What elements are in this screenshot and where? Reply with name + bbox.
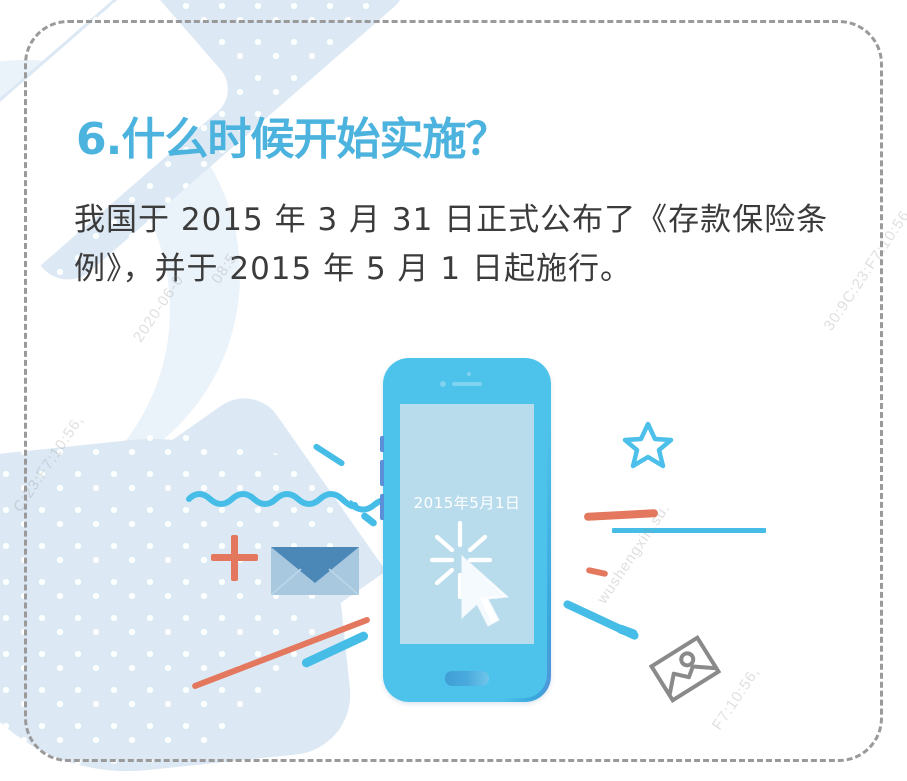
star-outline-icon (622, 420, 674, 470)
page-title: 6.什么时候开始实施？ (76, 103, 508, 167)
phone-screen[interactable]: 2015年5月1日 (400, 404, 534, 644)
phone-front-camera (440, 381, 446, 387)
phone-sensor-dot (467, 372, 471, 376)
phone-side-button-mute[interactable] (380, 436, 384, 452)
infographic-slide: 6.什么时候开始实施？ 我国于 2015 年 3 月 31 日正式公布了《存款保… (0, 0, 907, 781)
phone-home-button[interactable] (445, 671, 489, 686)
image-photo-icon (648, 633, 722, 705)
body-paragraph: 我国于 2015 年 3 月 31 日正式公布了《存款保险条例》，并于 2015… (74, 196, 834, 294)
phone-earpiece-speaker (452, 382, 482, 386)
phone-side-button-volume-up[interactable] (380, 460, 384, 486)
phone-side-button-volume-down[interactable] (380, 494, 384, 520)
wavy-line-icon (186, 487, 358, 521)
plus-sign-icon-cross (211, 554, 258, 561)
envelope-icon (271, 547, 359, 595)
screen-date-text: 2015年5月1日 (400, 492, 534, 513)
smartphone-illustration: 2015年5月1日 (383, 358, 551, 702)
cursor-arrow-icon (458, 554, 524, 634)
blue-horizontal-line (612, 528, 766, 533)
